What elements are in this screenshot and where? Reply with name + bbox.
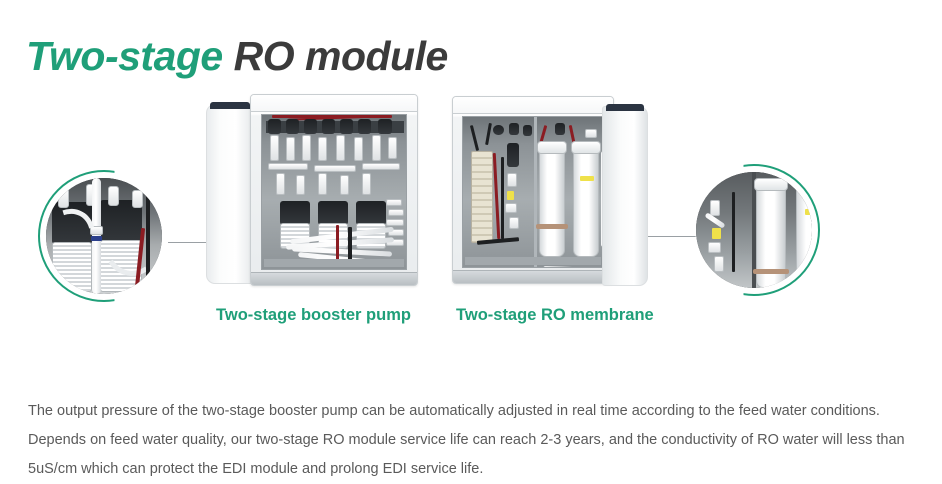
- solenoid-6: [358, 119, 371, 134]
- outlet-fitting-2: [388, 209, 404, 216]
- booster-pump-body-3: [356, 223, 386, 249]
- stack-wire-black: [501, 157, 504, 239]
- outlet-fitting-1: [386, 199, 402, 206]
- solenoid-7: [378, 119, 392, 134]
- cabinet-side-panel-left: [206, 104, 254, 284]
- inset-photo-right: [696, 172, 812, 288]
- vessel-cap-1: [537, 141, 567, 154]
- caption-ro-membrane: Two-stage RO membrane: [456, 306, 654, 325]
- cabinet-top-lip-left: [251, 95, 417, 112]
- interior-floor: [264, 259, 404, 267]
- manifold-fitting-10: [296, 175, 305, 195]
- wire-black: [146, 196, 150, 288]
- manifold-cross-2: [314, 165, 356, 172]
- manifold-fitting-6: [354, 137, 363, 161]
- manifold-fitting-8: [388, 137, 397, 159]
- page-title-accent: Two-stage: [26, 33, 223, 79]
- vessel-band-1: [536, 224, 568, 229]
- closeup-cap-1: [754, 178, 788, 191]
- cabinet-interior-left: [261, 114, 407, 270]
- closeup-scene-membranes: [696, 172, 812, 288]
- top-fitting-right: [585, 129, 597, 138]
- cabinet-side-panel-right: [602, 106, 648, 286]
- manifold-fitting-4: [318, 137, 327, 161]
- booster-pump-head-1: [280, 201, 310, 225]
- manifold-fitting-7: [372, 135, 381, 161]
- vessel-sticker: [580, 176, 594, 181]
- product-diagram: Two-stage booster pump Two-stage RO memb…: [0, 78, 942, 333]
- closeup-wire: [732, 192, 735, 272]
- cylinder-filter: [507, 143, 519, 167]
- yellow-marker: [507, 191, 514, 200]
- fitting-c: [108, 186, 119, 206]
- top-valve-1: [493, 125, 504, 135]
- closeup-fitting-1: [710, 200, 720, 216]
- cabinet-body-left: [250, 94, 418, 286]
- cabinet-bottom-lip-left: [251, 272, 417, 285]
- top-wire-2: [485, 123, 492, 145]
- closeup-fitting-3: [714, 256, 724, 272]
- interior-floor-right: [465, 257, 601, 265]
- top-wire-1: [470, 125, 479, 151]
- drain-hose: [543, 266, 601, 268]
- closeup-sticker: [805, 209, 812, 215]
- closeup-cap-2: [794, 176, 812, 189]
- left-bay-fitting-3: [509, 217, 519, 229]
- manifold-cross-3: [362, 163, 400, 170]
- manifold-fitting-13: [362, 173, 371, 195]
- manifold-fitting-12: [340, 175, 349, 195]
- bay-divider: [534, 117, 537, 267]
- manifold-fitting-5: [336, 135, 345, 161]
- solenoid-5: [340, 119, 353, 134]
- closeup-fitting-2: [708, 242, 721, 253]
- closeup-vessel-2: [796, 182, 812, 288]
- inset-photo-left: [46, 178, 162, 294]
- cabinet-interior-right: [462, 116, 604, 268]
- cabinet-top-cap-right: [606, 104, 644, 111]
- cabinet-bottom-lip-right: [453, 270, 613, 283]
- booster-pump-head-3: [356, 201, 386, 225]
- solenoid-3: [304, 119, 317, 134]
- page-title-plain: RO module: [223, 33, 448, 79]
- ro-membrane-vessel-1: [539, 147, 565, 257]
- manifold-cross-1: [268, 163, 308, 170]
- closeup-vessel-1: [756, 184, 786, 288]
- inset-ro-membrane-closeup: [688, 164, 820, 296]
- description-paragraph: The output pressure of the two-stage boo…: [28, 397, 916, 484]
- top-valve-4: [555, 123, 565, 135]
- inset-booster-pump-closeup: [38, 170, 170, 302]
- top-valve-3: [523, 125, 532, 136]
- solenoid-2: [286, 119, 299, 134]
- manifold-fitting-3: [302, 135, 311, 161]
- manifold-fitting-1: [270, 135, 279, 161]
- machine-ro-membrane: [452, 92, 648, 282]
- cabinet-top-lip-right: [453, 97, 613, 114]
- caption-booster-pump: Two-stage booster pump: [216, 306, 411, 325]
- machine-booster-pump: [206, 90, 418, 286]
- pump-wire-red: [336, 225, 339, 261]
- left-bay-fitting-1: [507, 173, 517, 187]
- booster-pump-head-2: [318, 201, 348, 225]
- solenoid-1: [268, 119, 281, 134]
- closeup-yellow-marker: [712, 228, 721, 239]
- solenoid-4: [322, 119, 335, 134]
- page-title: Two-stage RO module: [26, 33, 448, 80]
- cabinet-body-right: [452, 96, 614, 284]
- top-valve-2: [509, 123, 519, 135]
- manifold-fitting-2: [286, 137, 295, 161]
- closeup-scene-pumps: [46, 178, 162, 294]
- manifold-fitting-11: [318, 173, 327, 195]
- outlet-fitting-3: [386, 219, 404, 226]
- ro-membrane-vessel-2: [573, 147, 599, 257]
- fitting-d: [132, 190, 143, 208]
- left-bay-fitting-2: [505, 203, 517, 213]
- manifold-fitting-9: [276, 173, 285, 195]
- vessel-cap-2: [571, 141, 601, 154]
- stack-wire-red: [493, 153, 500, 239]
- closeup-band-1: [753, 269, 789, 274]
- module-stack: [471, 151, 493, 243]
- fitting-a: [58, 188, 69, 208]
- cabinet-top-cap-left: [210, 102, 250, 109]
